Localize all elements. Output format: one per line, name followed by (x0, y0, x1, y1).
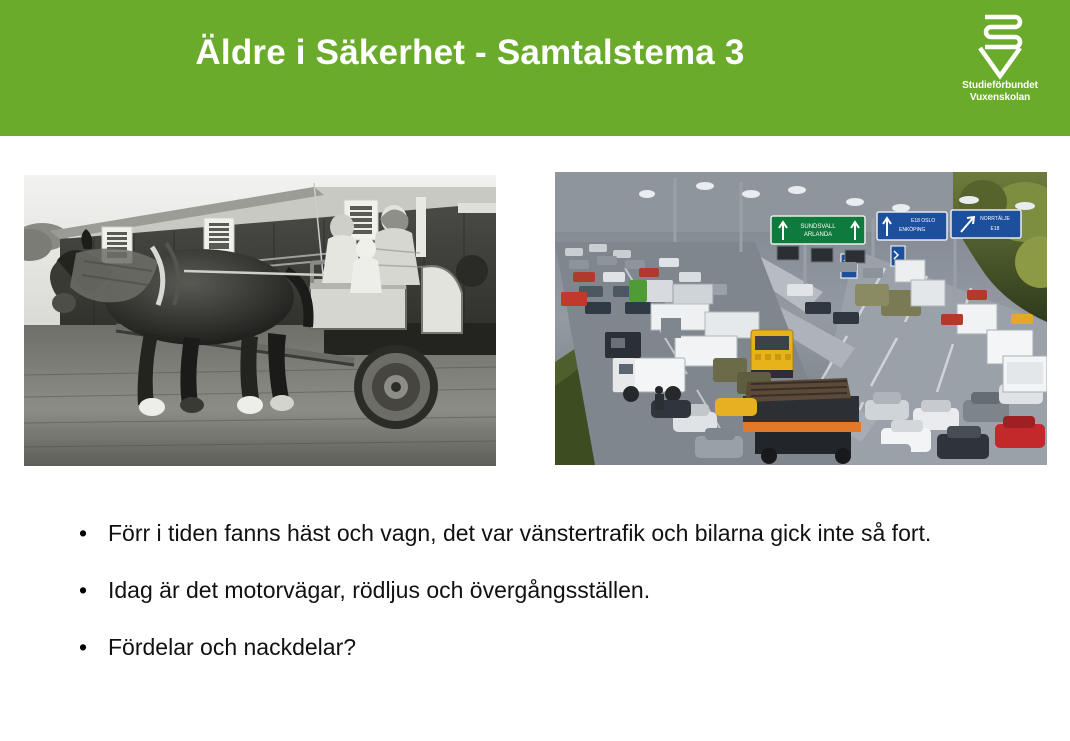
svg-text:NORRTÄLJE: NORRTÄLJE (980, 215, 1010, 222)
sv-logo: Studieförbundet Vuxenskolan (952, 12, 1048, 110)
road-sign-blue-left: E18 OSLO ENKÖPING (877, 212, 947, 240)
traffic-photo-graphic: SUNDSVALL ARLANDA E18 OSLO ENKÖPING NORR… (555, 172, 1047, 465)
list-item: • Förr i tiden fanns häst och vagn, det … (72, 518, 1012, 549)
historic-horse-cart-photo (24, 175, 496, 466)
bullet-marker: • (72, 632, 108, 663)
list-item: • Fördelar och nackdelar? (72, 632, 1012, 663)
svg-text:E18: E18 (991, 226, 1000, 232)
slide-header-band: Äldre i Säkerhet - Samtalstema 3 Studief… (0, 0, 1070, 136)
road-sign-blue-right: NORRTÄLJE E18 (951, 210, 1021, 238)
bullet-text: Förr i tiden fanns häst och vagn, det va… (108, 518, 992, 549)
svg-text:E18 OSLO: E18 OSLO (911, 218, 935, 224)
bullet-text: Fördelar och nackdelar? (108, 632, 992, 663)
historic-photo-graphic (24, 175, 496, 466)
logo-wordmark: Studieförbundet Vuxenskolan (952, 80, 1048, 104)
sv-monogram-icon (971, 12, 1029, 80)
logo-line-1: Studieförbundet (952, 80, 1048, 92)
bullet-text: Idag är det motorvägar, rödljus och över… (108, 575, 992, 606)
road-sign-green: SUNDSVALL ARLANDA (771, 216, 865, 244)
svg-text:SUNDSVALL: SUNDSVALL (800, 224, 836, 230)
modern-traffic-jam-photo: SUNDSVALL ARLANDA E18 OSLO ENKÖPING NORR… (555, 172, 1047, 465)
page-title: Äldre i Säkerhet - Samtalstema 3 (0, 31, 940, 75)
svg-text:ENKÖPING: ENKÖPING (899, 226, 926, 233)
logo-line-2: Vuxenskolan (952, 92, 1048, 104)
bullet-marker: • (72, 518, 108, 549)
svg-text:ARLANDA: ARLANDA (804, 232, 832, 238)
bullet-marker: • (72, 575, 108, 606)
list-item: • Idag är det motorvägar, rödljus och öv… (72, 575, 1012, 606)
bullet-list: • Förr i tiden fanns häst och vagn, det … (72, 518, 1012, 663)
